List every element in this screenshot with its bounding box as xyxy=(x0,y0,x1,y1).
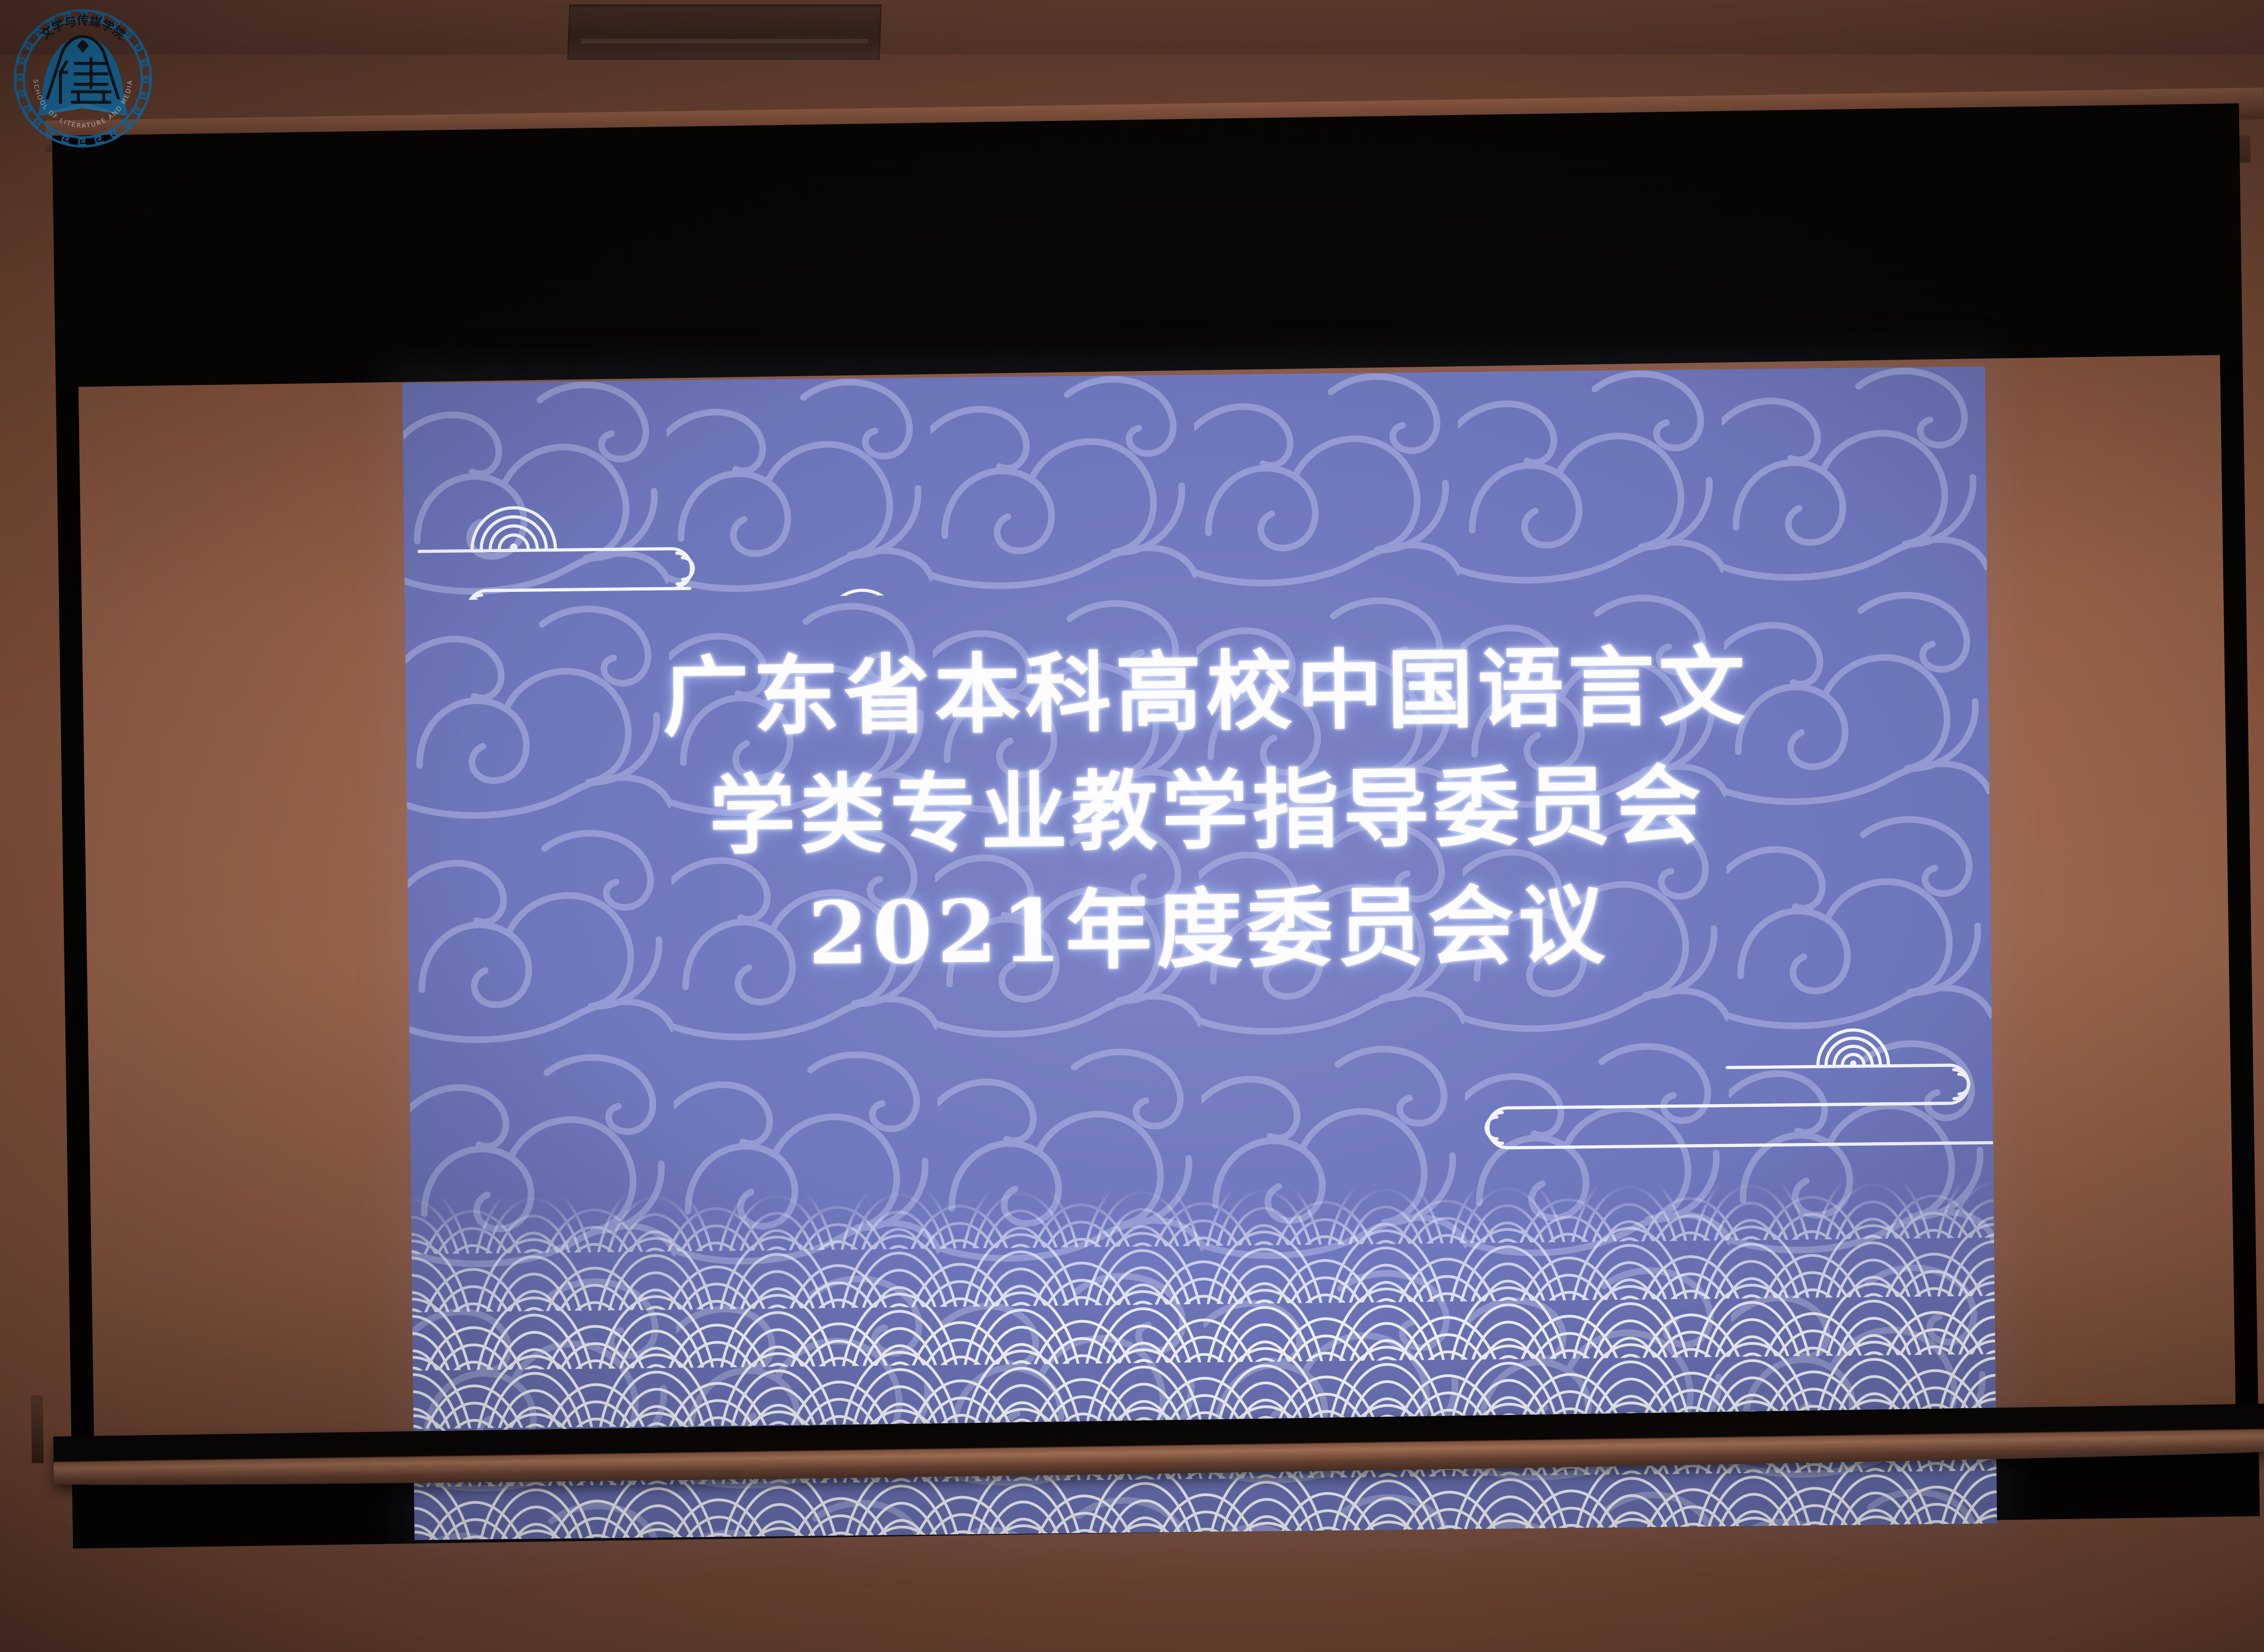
slide-title-block: 广东省本科高校中国语言文 学类专业教学指导委员会 2021年度委员会议 xyxy=(405,624,1991,997)
seigaiha-wave-band xyxy=(411,1179,1997,1540)
projection-screen: 广东省本科高校中国语言文 学类专业教学指导委员会 2021年度委员会议 xyxy=(52,103,2260,1548)
cloud-motif-right xyxy=(1410,996,1995,1151)
screen-top-mask xyxy=(52,103,2243,387)
slide-title-line-1: 广东省本科高校中国语言文 xyxy=(423,624,1989,759)
slide-title-line-2: 学类专业教学指导委员会 xyxy=(424,744,1990,879)
cloud-motif-top-left xyxy=(417,450,952,600)
ceiling-vent-panel xyxy=(567,5,882,60)
school-logo-watermark: 文学与传媒学院 SCHOOL OF LITERATURE AND MEDIA xyxy=(8,4,158,153)
projected-slide: 广东省本科高校中国语言文 学类专业教学指导委员会 2021年度委员会议 xyxy=(403,366,1997,1540)
screenshot-root: 广东省本科高校中国语言文 学类专业教学指导委员会 2021年度委员会议 xyxy=(0,0,2264,1652)
slide-title-line-3: 2021年度委员会议 xyxy=(426,862,1991,997)
screen-bar-endcap-left xyxy=(31,1395,43,1463)
room-ceiling xyxy=(0,0,2264,54)
